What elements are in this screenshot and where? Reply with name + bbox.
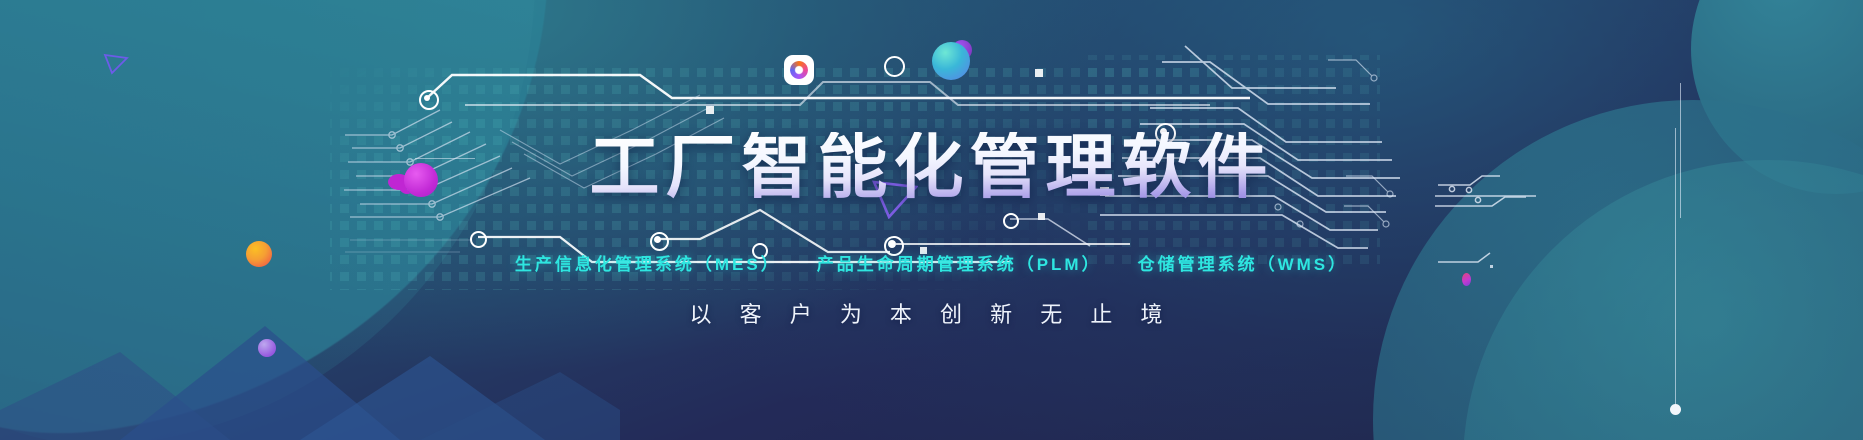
system-item-wms: 仓储管理系统（WMS） bbox=[1138, 250, 1349, 275]
system-item-mes: 生产信息化管理系统（MES） bbox=[515, 250, 781, 275]
banner-content: 工厂智能化管理软件 生产信息化管理系统（MES） 产品生命周期管理系统（PLM）… bbox=[0, 0, 1863, 440]
banner-tagline: 以 客 户 为 本 创 新 无 止 境 bbox=[689, 297, 1173, 329]
product-system-list: 生产信息化管理系统（MES） 产品生命周期管理系统（PLM） 仓储管理系统（WM… bbox=[515, 250, 1348, 275]
system-item-plm: 产品生命周期管理系统（PLM） bbox=[817, 250, 1102, 275]
banner-title: 工厂智能化管理软件 bbox=[590, 132, 1274, 202]
factory-software-banner: 工厂智能化管理软件 生产信息化管理系统（MES） 产品生命周期管理系统（PLM）… bbox=[0, 0, 1863, 440]
